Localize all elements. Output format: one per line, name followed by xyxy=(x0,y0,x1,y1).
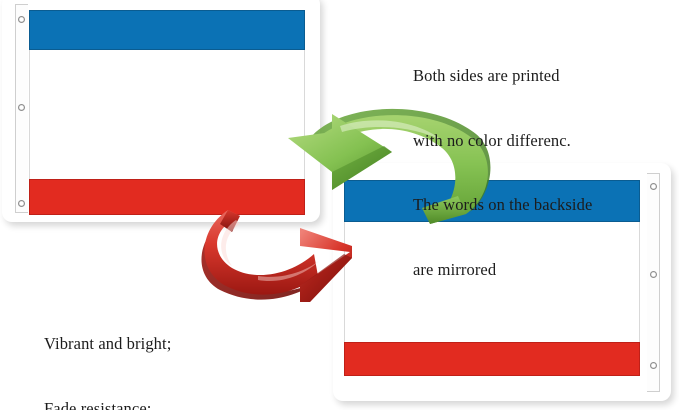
flag-front-panel xyxy=(2,0,320,222)
grommet-icon xyxy=(18,104,25,111)
grommet-icon xyxy=(650,362,657,369)
caption-top-right-line-3: The words on the backside xyxy=(413,194,592,216)
flag-front-red-band xyxy=(29,179,305,215)
caption-top-right: Both sides are printed with no color dif… xyxy=(413,22,592,323)
product-infographic: Both sides are printed with no color dif… xyxy=(0,0,679,410)
caption-bottom-left: Vibrant and bright; Fade resistance; Dur… xyxy=(44,290,222,410)
grommet-icon xyxy=(650,271,657,278)
flag-front-white-field xyxy=(29,50,305,179)
grommet-icon xyxy=(650,183,657,190)
flag-back-red-band xyxy=(344,342,640,376)
caption-top-right-line-2: with no color differenc. xyxy=(413,130,592,152)
grommet-icon xyxy=(18,16,25,23)
caption-bottom-left-line-1: Vibrant and bright; xyxy=(44,333,222,355)
grommet-icon xyxy=(18,200,25,207)
flag-front-blue-band xyxy=(29,10,305,50)
flag-back-hoist-strip xyxy=(647,173,660,392)
caption-bottom-left-line-2: Fade resistance; xyxy=(44,398,222,410)
caption-top-right-line-4: are mirrored xyxy=(413,259,592,281)
caption-top-right-line-1: Both sides are printed xyxy=(413,65,592,87)
